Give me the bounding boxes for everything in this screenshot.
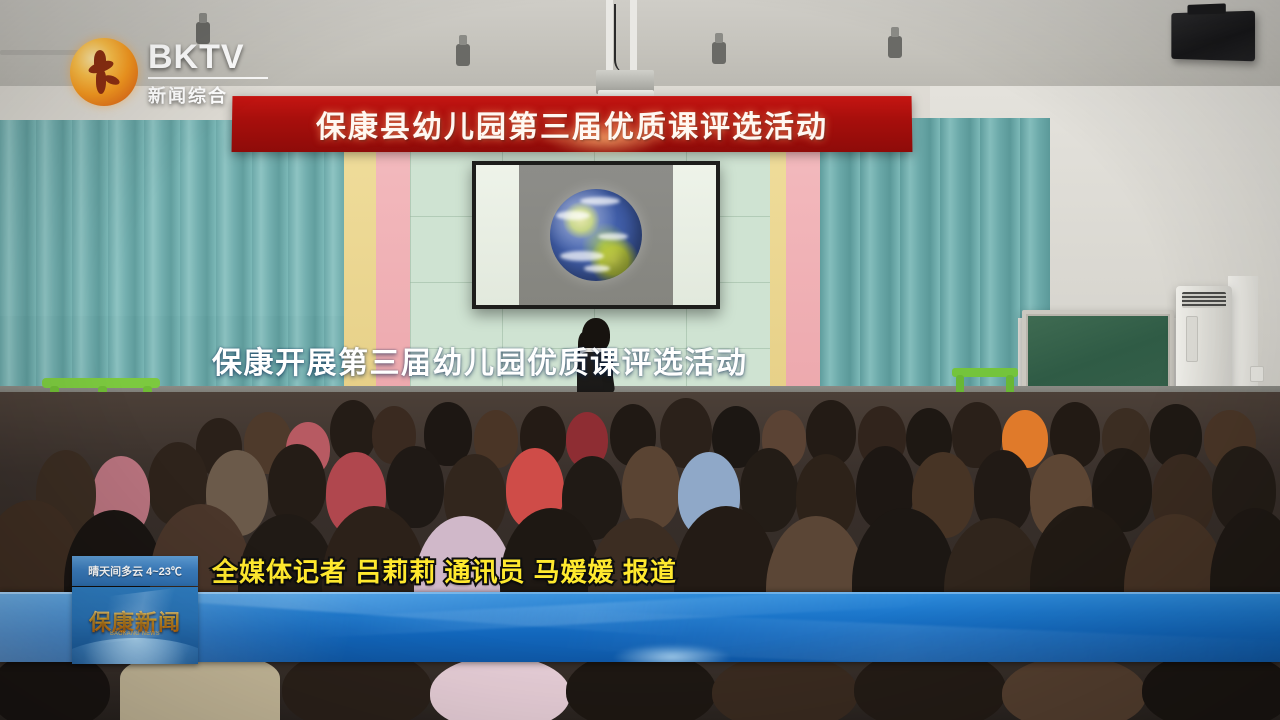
channel-logo-text: BKTV 新闻综合 xyxy=(148,40,272,108)
ceiling-projector-mount xyxy=(596,0,652,108)
wall-stripe-pink-right xyxy=(786,150,820,416)
audience-person xyxy=(268,444,326,526)
wall-outlet-icon xyxy=(1250,366,1264,382)
audience-person xyxy=(566,662,716,720)
audience-person xyxy=(0,662,110,720)
channel-subtitle: 新闻综合 xyxy=(148,82,272,108)
program-subtitle: BAOKANG NEWS xyxy=(77,631,193,637)
headline-text: 保康开展第三届幼儿园优质课评选活动 xyxy=(212,338,748,382)
channel-name: BKTV xyxy=(148,40,272,74)
weather-text: 晴天间多云 4~23℃ xyxy=(88,563,182,579)
logo-globe-arc xyxy=(72,638,198,664)
channel-logo: BKTV 新闻综合 xyxy=(70,36,270,118)
projected-slide xyxy=(519,165,673,305)
event-banner-text: 保康县幼儿园第三届优质课评选活动 xyxy=(232,96,913,152)
program-logo-panel: 保康新闻 BAOKANG NEWS xyxy=(72,587,198,664)
ac-vent-icon xyxy=(1182,292,1226,308)
audience-person xyxy=(854,662,1006,720)
audience-person xyxy=(622,446,680,530)
reporter-credit: 全媒体记者 吕莉莉 通讯员 马媛媛 报道 xyxy=(212,552,677,589)
broadcast-video-frame: 保康县幼儿园第三届优质课评选活动 xyxy=(0,0,1280,720)
audience-person xyxy=(1002,662,1146,720)
projection-screen xyxy=(472,161,720,309)
logo-divider xyxy=(148,77,268,79)
headline-glow xyxy=(612,644,732,662)
audience-person xyxy=(712,662,858,720)
earth-globe-icon xyxy=(550,189,642,281)
audience-person xyxy=(120,662,280,720)
audience-person xyxy=(430,662,570,720)
weather-badge: 晴天间多云 4~23℃ xyxy=(72,556,198,586)
event-banner: 保康县幼儿园第三届优质课评选活动 xyxy=(232,96,913,152)
program-logo-block: 晴天间多云 4~23℃ 保康新闻 BAOKANG NEWS xyxy=(72,556,198,664)
audience-person xyxy=(1142,662,1280,720)
ac-control-panel xyxy=(1186,316,1198,362)
track-light-icon xyxy=(712,42,726,64)
track-light-icon xyxy=(888,36,902,58)
audience-person xyxy=(282,662,432,720)
phoenix-flame-icon xyxy=(70,38,138,106)
track-light-icon xyxy=(456,44,470,66)
wall-speaker-icon xyxy=(1171,11,1255,62)
lower-video-strip xyxy=(0,662,1280,720)
green-chalkboard xyxy=(1022,310,1174,396)
